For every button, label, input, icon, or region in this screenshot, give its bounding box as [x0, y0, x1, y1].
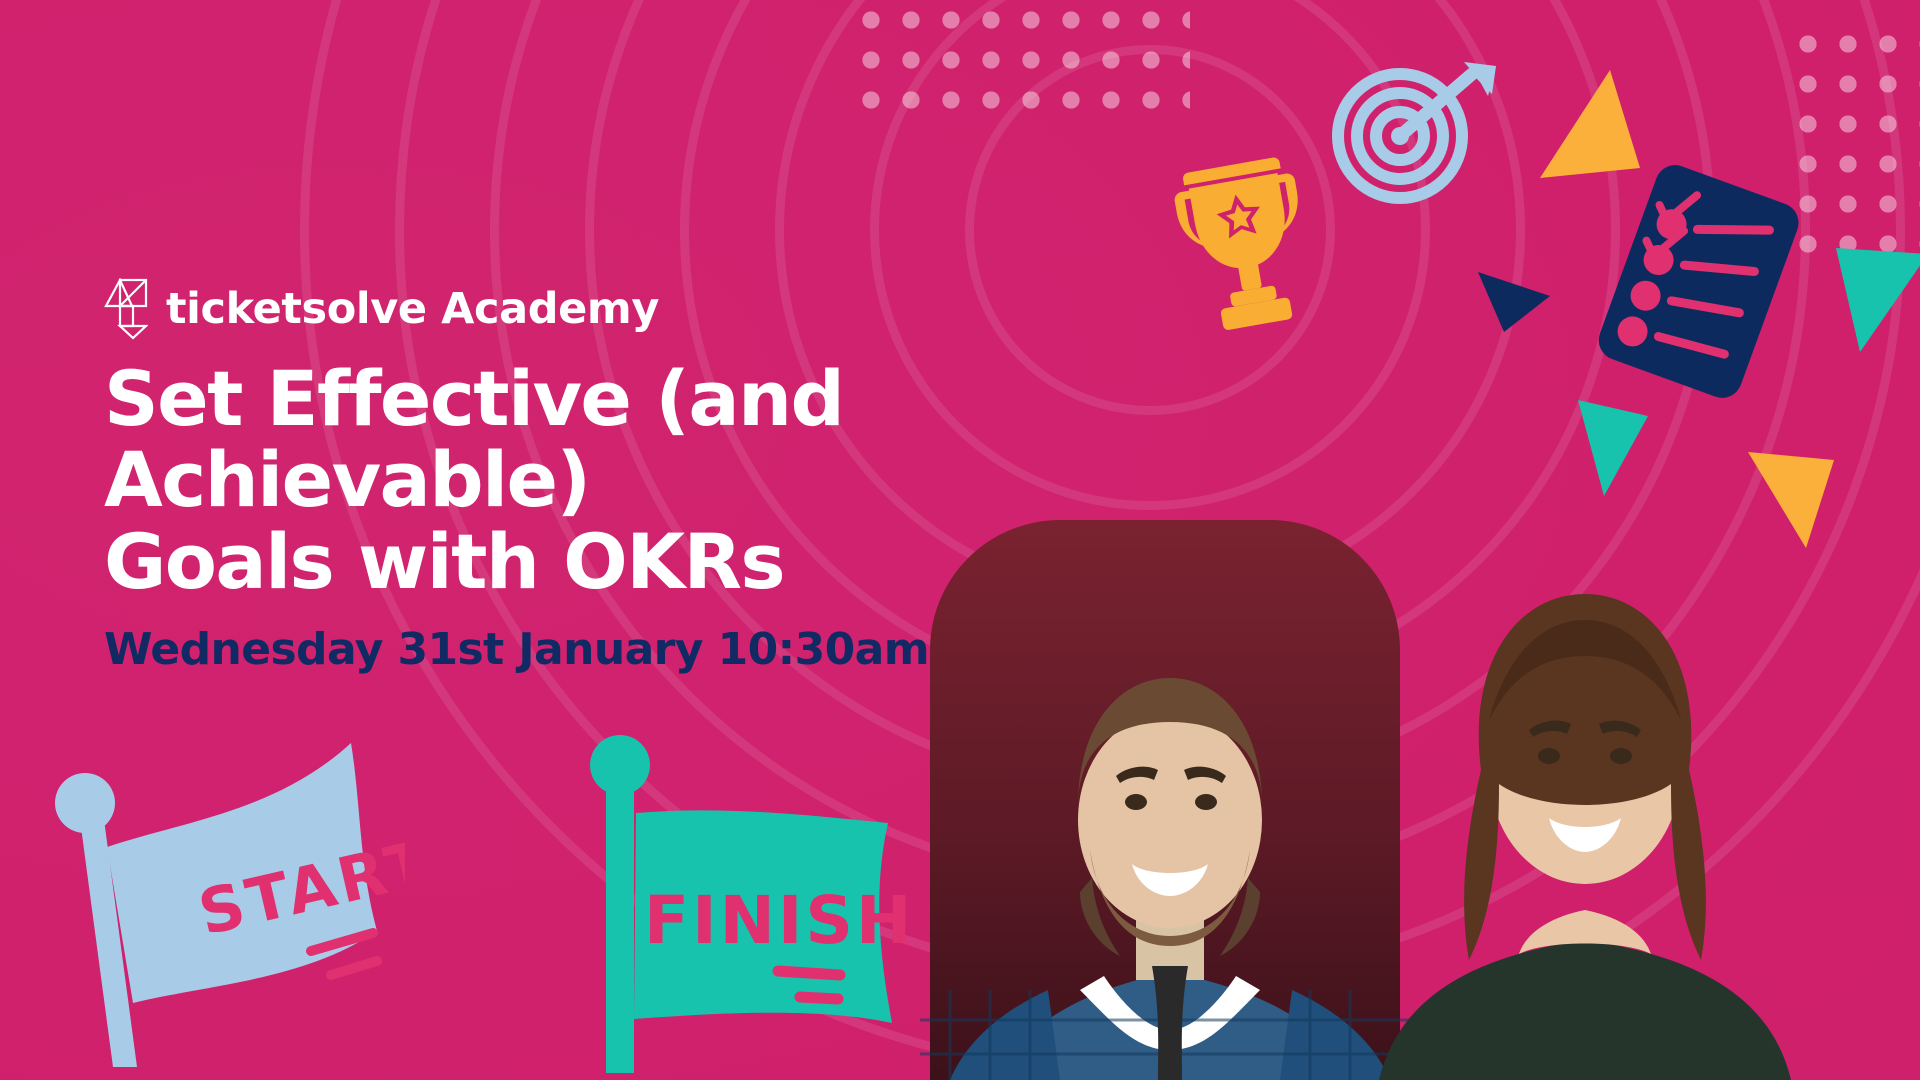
- finish-flag-label: FINISH: [644, 882, 908, 959]
- headline-line-1: Set Effective (and Achievable): [104, 358, 1264, 521]
- page-title: Set Effective (and Achievable) Goals wit…: [104, 358, 1264, 602]
- dot-grid-pattern-top: [845, 0, 1190, 129]
- brand-lockup: ticketsolve Academy: [104, 278, 1264, 340]
- triangle-teal-right: [1836, 248, 1920, 358]
- dartboard-target-icon: [1322, 58, 1507, 208]
- banner-content: ticketsolve Academy Set Effective (and A…: [104, 278, 1264, 675]
- ticketsolve-logo-mark-icon: [104, 278, 148, 340]
- checklist-clipboard-icon: [1576, 160, 1816, 400]
- headline-line-2: Goals with OKRs: [104, 521, 1264, 602]
- event-date-time: Wednesday 31st January 10:30am: [104, 624, 1264, 675]
- promotional-banner: START FINISH: [0, 0, 1920, 1080]
- brand-name: ticketsolve Academy: [166, 288, 659, 331]
- speaker-photo-right: [1305, 470, 1865, 1080]
- start-flag-icon: START: [55, 735, 405, 1070]
- finish-flag-icon: FINISH: [578, 735, 908, 1075]
- triangle-navy-small: [1478, 268, 1558, 338]
